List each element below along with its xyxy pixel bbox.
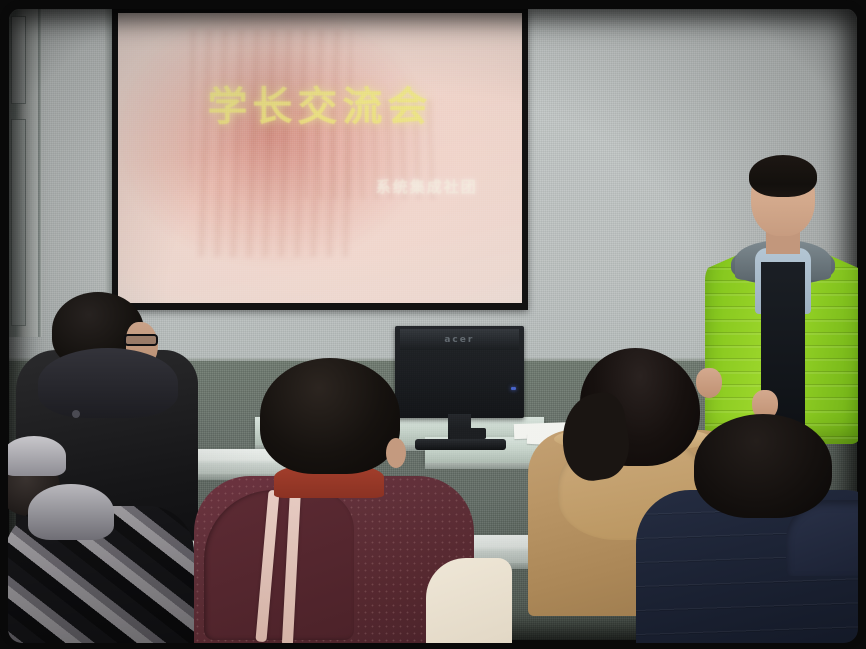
- glasses-icon: [124, 334, 158, 346]
- monitor-power-led: [511, 387, 516, 390]
- slide-subtitle: 系统集成社团: [376, 176, 478, 197]
- student-maroon-striped-vest: [194, 358, 494, 643]
- door-frame: [8, 6, 42, 337]
- monitor-brand-label: acer: [444, 335, 474, 345]
- student-ear: [386, 438, 406, 468]
- student-hood: [38, 348, 178, 418]
- projection-screen: 学长交流会 系统集成社团: [112, 8, 529, 311]
- monitor-brand-bar: acer: [400, 329, 519, 349]
- slide-title: 学长交流会: [118, 74, 523, 132]
- student-hair: [260, 358, 400, 474]
- projection-surface: 学长交流会 系统集成社团: [118, 13, 523, 304]
- classroom-scene: 学长交流会 系统集成社团 acer: [8, 6, 858, 643]
- door-frame-edge: [38, 6, 41, 337]
- presenter-hair: [749, 155, 817, 197]
- jacket-snap-button: [72, 410, 80, 418]
- student-patterned-jacket: [8, 506, 196, 643]
- student-hair: [694, 414, 832, 518]
- partial-figure-cap: [8, 436, 66, 476]
- student-vest-hood: [204, 490, 354, 640]
- student-cream-sleeve: [426, 558, 512, 643]
- student-light-hood: [28, 484, 114, 540]
- student-navy-puffer: [636, 414, 858, 643]
- photograph: 学长交流会 系统集成社团 acer: [0, 0, 866, 649]
